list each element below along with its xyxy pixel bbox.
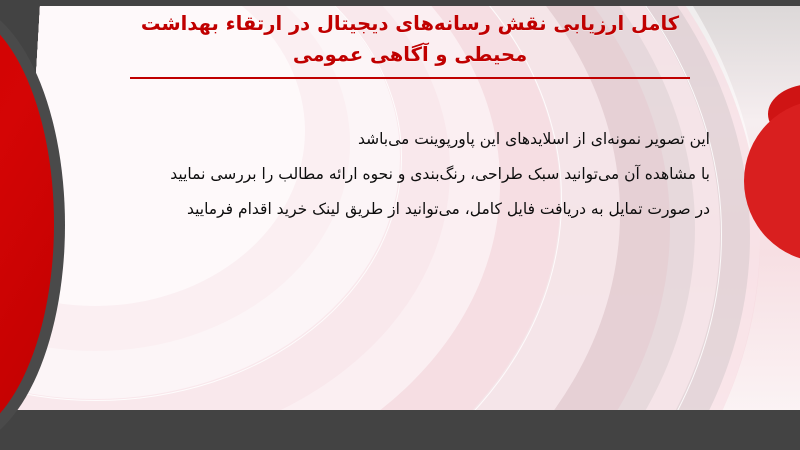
body-line-2: با مشاهده آن می‌توانید سبک طراحی، رنگ‌بن… (60, 157, 710, 192)
title-line-2: محیطی و آگاهی عمومی (110, 39, 710, 70)
body-line-1: این تصویر نمونه‌ای از اسلایدهای این پاور… (60, 122, 710, 157)
body-line-3: در صورت تمایل به دریافت فایل کامل، می‌تو… (60, 192, 710, 227)
title-line-1: کامل ارزیابی نقش رسانه‌های دیجیتال در ار… (110, 8, 710, 39)
bottom-dark-strip (0, 410, 800, 450)
slide-body-text: این تصویر نمونه‌ای از اسلایدهای این پاور… (60, 122, 710, 227)
title-underline (130, 77, 690, 79)
presentation-slide: کامل ارزیابی نقش رسانه‌های دیجیتال در ار… (0, 0, 800, 450)
slide-title: کامل ارزیابی نقش رسانه‌های دیجیتال در ار… (110, 8, 710, 70)
